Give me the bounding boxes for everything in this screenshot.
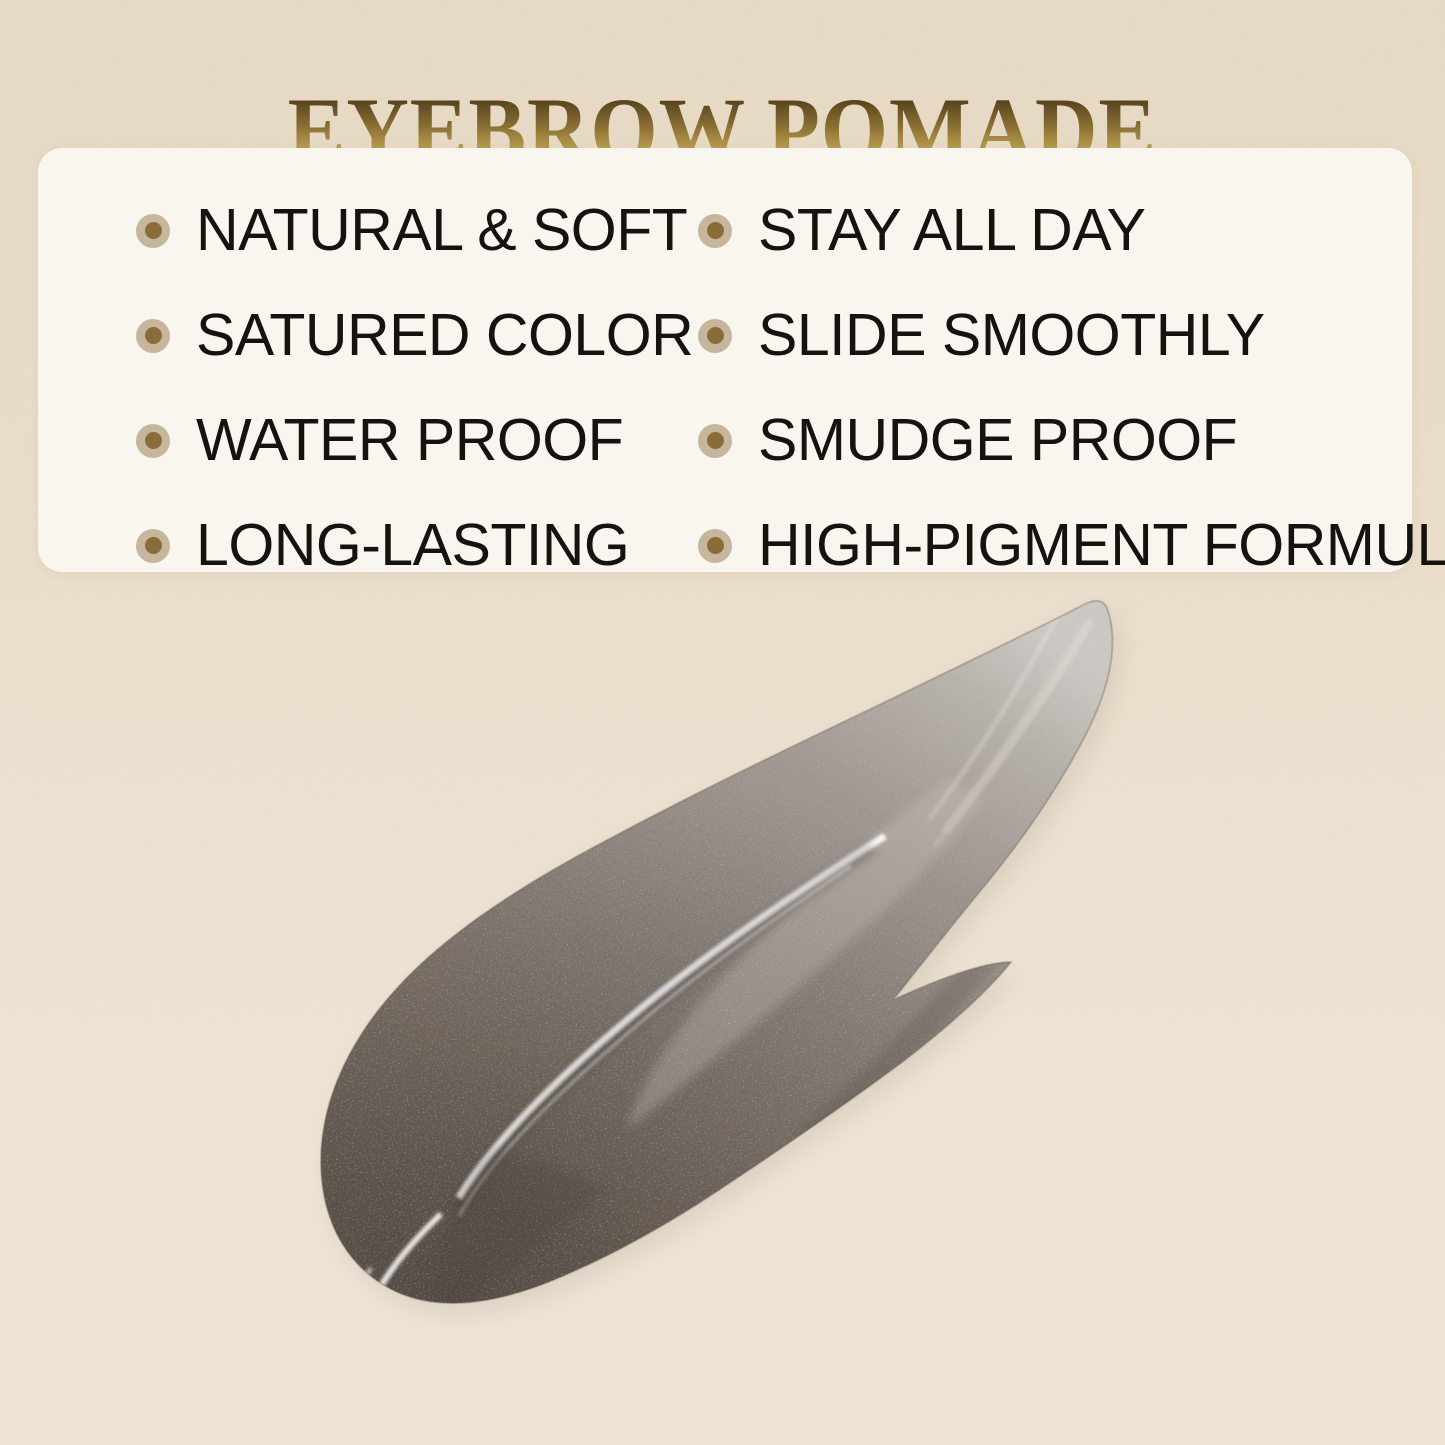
feature-item-satured-color: SATURED COLOR (136, 283, 693, 388)
features-column-left: NATURAL & SOFT SATURED COLOR WATER PROOF… (136, 178, 693, 598)
feature-item-smudge-proof: SMUDGE PROOF (698, 388, 1445, 493)
feature-label: NATURAL & SOFT (196, 201, 687, 260)
feature-label: SATURED COLOR (196, 306, 693, 365)
bullet-dot-icon (136, 214, 170, 248)
features-column-right: STAY ALL DAY SLIDE SMOOTHLY SMUDGE PROOF… (698, 178, 1445, 598)
feature-label: HIGH-PIGMENT FORMULA (758, 516, 1445, 575)
bullet-dot-icon (136, 529, 170, 563)
feature-label: STAY ALL DAY (758, 201, 1146, 260)
bullet-dot-icon (136, 319, 170, 353)
bullet-dot-icon (698, 319, 732, 353)
pomade-smear-swatch (245, 590, 1275, 1445)
bullet-dot-icon (698, 424, 732, 458)
product-feature-graphic: EYEBROW POMADE NATURAL & SOFT SATURED CO… (0, 0, 1445, 1445)
feature-label: LONG-LASTING (196, 516, 629, 575)
feature-item-water-proof: WATER PROOF (136, 388, 693, 493)
feature-item-natural-soft: NATURAL & SOFT (136, 178, 693, 283)
feature-item-stay-all-day: STAY ALL DAY (698, 178, 1445, 283)
feature-item-long-lasting: LONG-LASTING (136, 493, 693, 598)
features-card: NATURAL & SOFT SATURED COLOR WATER PROOF… (38, 148, 1412, 572)
feature-item-high-pigment-formula: HIGH-PIGMENT FORMULA (698, 493, 1445, 598)
feature-item-slide-smoothly: SLIDE SMOOTHLY (698, 283, 1445, 388)
feature-label: WATER PROOF (196, 411, 623, 470)
bullet-dot-icon (698, 529, 732, 563)
feature-label: SLIDE SMOOTHLY (758, 306, 1265, 365)
bullet-dot-icon (698, 214, 732, 248)
feature-label: SMUDGE PROOF (758, 411, 1237, 470)
bullet-dot-icon (136, 424, 170, 458)
